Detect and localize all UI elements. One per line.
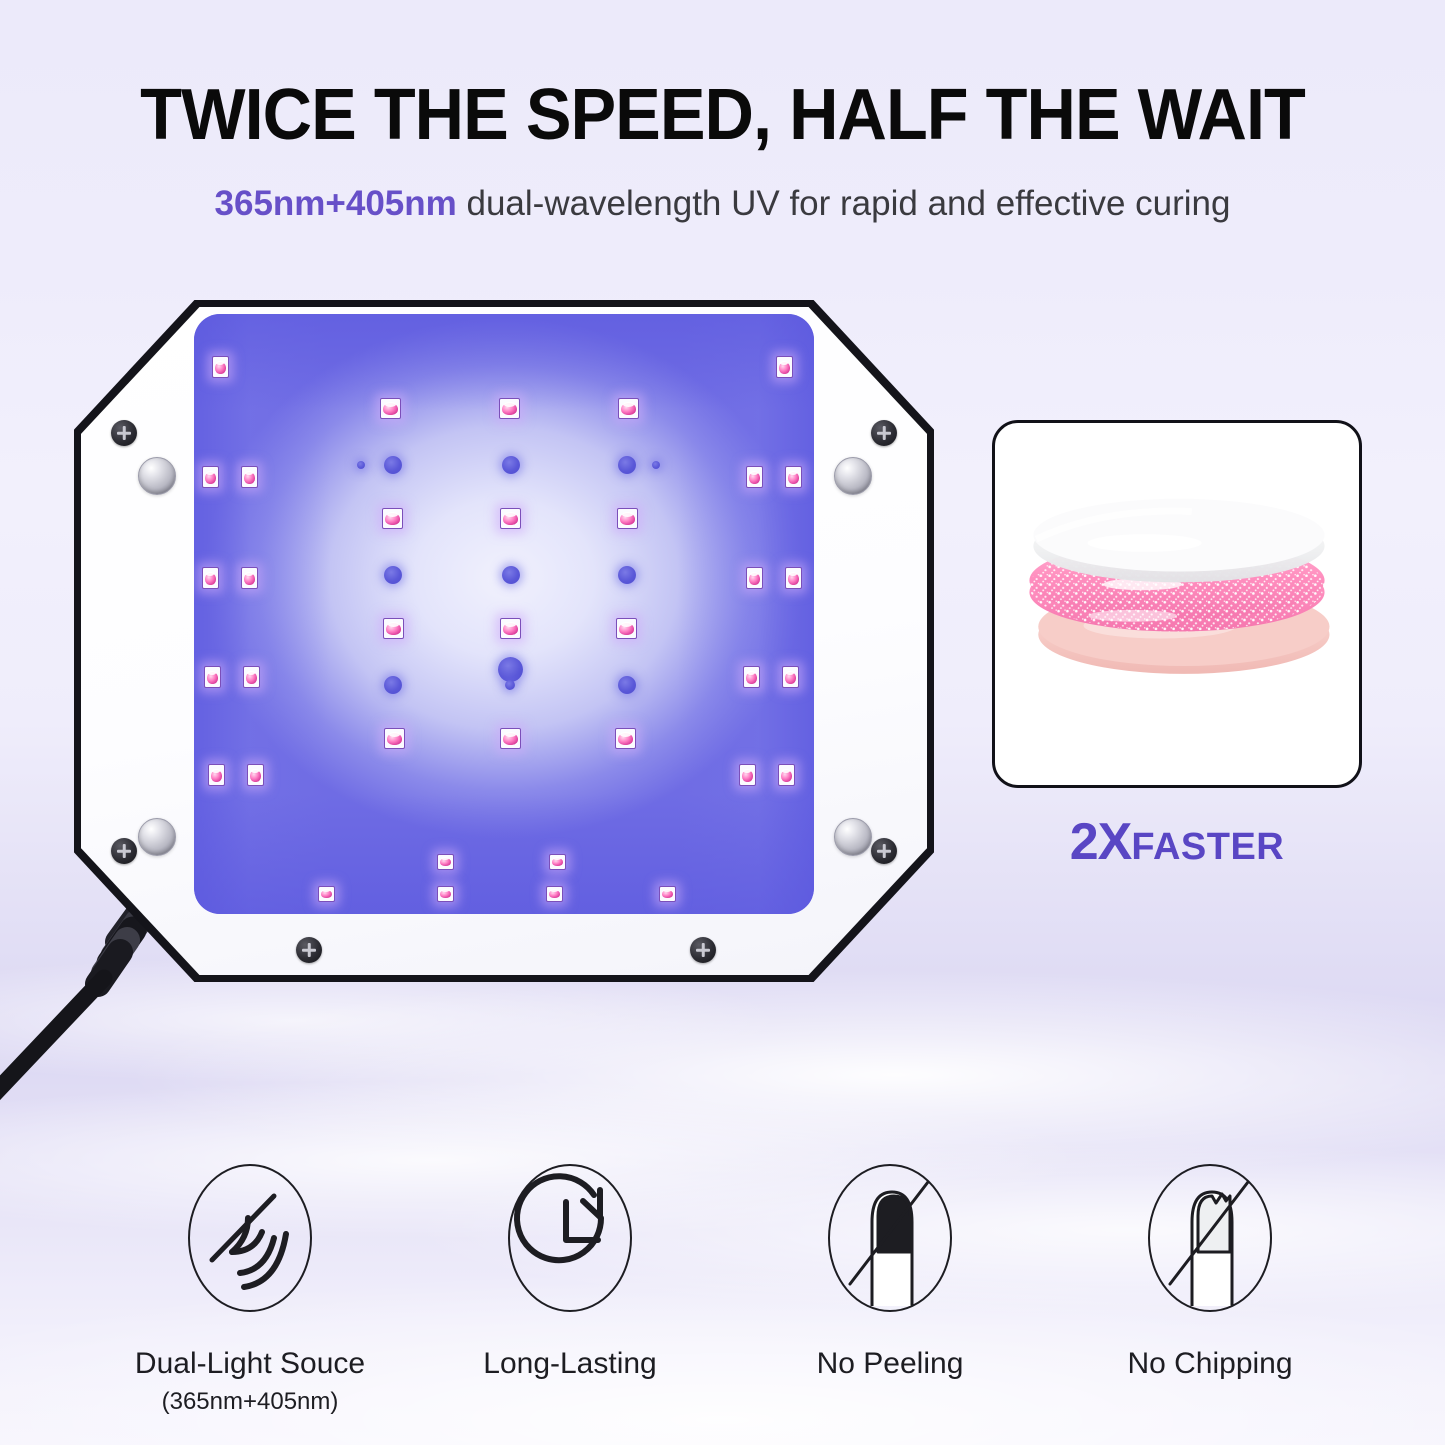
led-glow-dot: [502, 456, 520, 474]
no-peeling-nail-icon: [810, 1160, 970, 1325]
uv-curing-cavity: [194, 314, 814, 914]
led-chip: [549, 854, 566, 870]
led-chip: [437, 886, 454, 902]
led-glow-dot: [618, 676, 636, 694]
led-glow-dot: [384, 566, 402, 584]
led-chip: [202, 466, 219, 488]
uv-nail-lamp: [74, 300, 934, 982]
feature-label: Dual-Light Souce: [135, 1347, 365, 1381]
feature-label: No Chipping: [1127, 1347, 1292, 1381]
led-glow-dot: [618, 566, 636, 584]
led-chip: [617, 508, 638, 529]
led-chip: [500, 618, 521, 639]
led-chip: [785, 567, 802, 589]
led-chip: [384, 728, 405, 749]
led-glow-dot: [505, 680, 515, 690]
led-chip: [380, 398, 401, 419]
led-chip: [500, 728, 521, 749]
feature-item: Dual-Light Souce (365nm+405nm): [90, 1160, 410, 1430]
speed-multiplier-label: 2XFASTER: [992, 812, 1362, 872]
led-chip: [776, 356, 793, 378]
led-chip: [212, 356, 229, 378]
led-chip: [243, 666, 260, 688]
led-chip: [778, 764, 795, 786]
led-glow-dot: [502, 566, 520, 584]
led-glow-dot: [357, 461, 365, 469]
led-glow-dot: [384, 456, 402, 474]
product-feature-graphic: TWICE THE SPEED, HALF THE WAIT 365nm+405…: [0, 0, 1445, 1445]
subtitle: 365nm+405nm dual-wavelength UV for rapid…: [0, 183, 1445, 225]
no-chipping-nail-icon: [1130, 1160, 1290, 1325]
magnet-pad: [834, 818, 872, 856]
page-title: TWICE THE SPEED, HALF THE WAIT: [36, 78, 1409, 152]
led-chip: [247, 764, 264, 786]
led-chip: [318, 886, 335, 902]
led-chip: [500, 508, 521, 529]
feature-item: No Peeling: [730, 1160, 1050, 1430]
led-glow-dot: [652, 461, 660, 469]
feature-item: No Chipping: [1050, 1160, 1370, 1430]
feature-item: Long-Lasting: [410, 1160, 730, 1430]
led-chip: [743, 666, 760, 688]
housing-screw: [111, 838, 137, 864]
multiplier-unit: FASTER: [1131, 826, 1284, 868]
led-chip: [782, 666, 799, 688]
led-chip: [208, 764, 225, 786]
led-chip: [383, 618, 404, 639]
led-glow-dot: [498, 657, 523, 682]
led-array: [194, 314, 814, 914]
led-chip: [382, 508, 403, 529]
led-chip: [437, 854, 454, 870]
led-chip: [659, 886, 676, 902]
wavelength-highlight: 365nm+405nm: [215, 184, 457, 223]
led-chip: [746, 466, 763, 488]
housing-screw: [296, 937, 322, 963]
clock-refresh-icon: [490, 1160, 650, 1325]
housing-screw: [690, 937, 716, 963]
led-chip: [499, 398, 520, 419]
feature-label: Long-Lasting: [483, 1347, 656, 1381]
gel-layer-stack: [995, 423, 1359, 785]
led-glow-dot: [618, 456, 636, 474]
magnet-pad: [834, 457, 872, 495]
led-chip: [618, 398, 639, 419]
led-chip: [241, 466, 258, 488]
led-chip: [241, 567, 258, 589]
housing-screw: [871, 420, 897, 446]
multiplier-value: 2X: [1070, 813, 1132, 871]
magnet-pad: [138, 457, 176, 495]
magnet-pad: [138, 818, 176, 856]
led-chip: [202, 567, 219, 589]
housing-screw: [871, 838, 897, 864]
feature-list: Dual-Light Souce (365nm+405nm) Long-Last…: [90, 1160, 1370, 1430]
led-chip: [616, 618, 637, 639]
led-chip: [546, 886, 563, 902]
dual-light-waves-icon: [170, 1160, 330, 1325]
led-glow-dot: [384, 676, 402, 694]
feature-sublabel: (365nm+405nm): [162, 1388, 339, 1416]
led-chip: [746, 567, 763, 589]
subtitle-text: dual-wavelength UV for rapid and effecti…: [457, 184, 1231, 223]
led-chip: [204, 666, 221, 688]
led-chip: [615, 728, 636, 749]
feature-label: No Peeling: [817, 1347, 964, 1381]
housing-screw: [111, 420, 137, 446]
gel-layers-callout-card: [992, 420, 1362, 788]
led-chip: [785, 466, 802, 488]
led-chip: [739, 764, 756, 786]
